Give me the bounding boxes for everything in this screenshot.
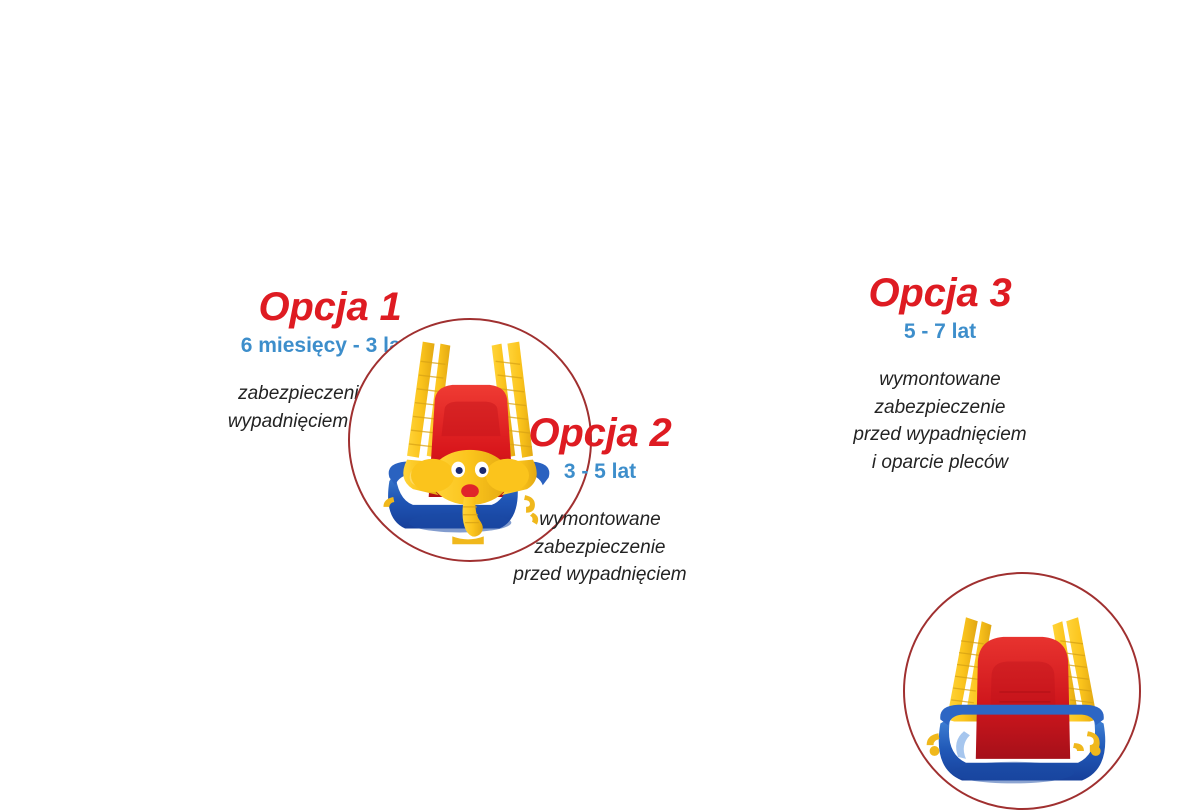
option-description-3: wymontowane zabezpieczenie przed wypadni… — [760, 366, 1120, 476]
description-line: wymontowane — [760, 366, 1120, 394]
option-card-2: Opcja 2 3 - 5 lat wymontowane zabezpiecz… — [420, 412, 780, 589]
backrest-red — [976, 637, 1070, 759]
description-line: przed wypadnięciem — [420, 561, 780, 589]
description-line: zabezpieczenie — [420, 534, 780, 562]
option-description-2: wymontowane zabezpieczenie przed wypadni… — [420, 506, 780, 589]
description-line: przed wypadnięciem — [760, 421, 1120, 449]
option-card-3: Opcja 3 5 - 7 lat wymontowane zabezpiecz… — [760, 272, 1120, 477]
infographic-stage: Opcja 1 6 miesięcy - 3 lata zabezpieczen… — [0, 0, 1200, 630]
option-title-3: Opcja 3 — [760, 272, 1120, 314]
product-photo-2 — [903, 572, 1141, 810]
description-line: zabezpieczenie — [760, 394, 1120, 422]
description-line: wymontowane — [420, 506, 780, 534]
option-age-3: 5 - 7 lat — [760, 318, 1120, 346]
description-line: i oparcie pleców — [760, 449, 1120, 477]
option-title-2: Opcja 2 — [420, 412, 780, 454]
option-age-2: 3 - 5 lat — [420, 458, 780, 486]
